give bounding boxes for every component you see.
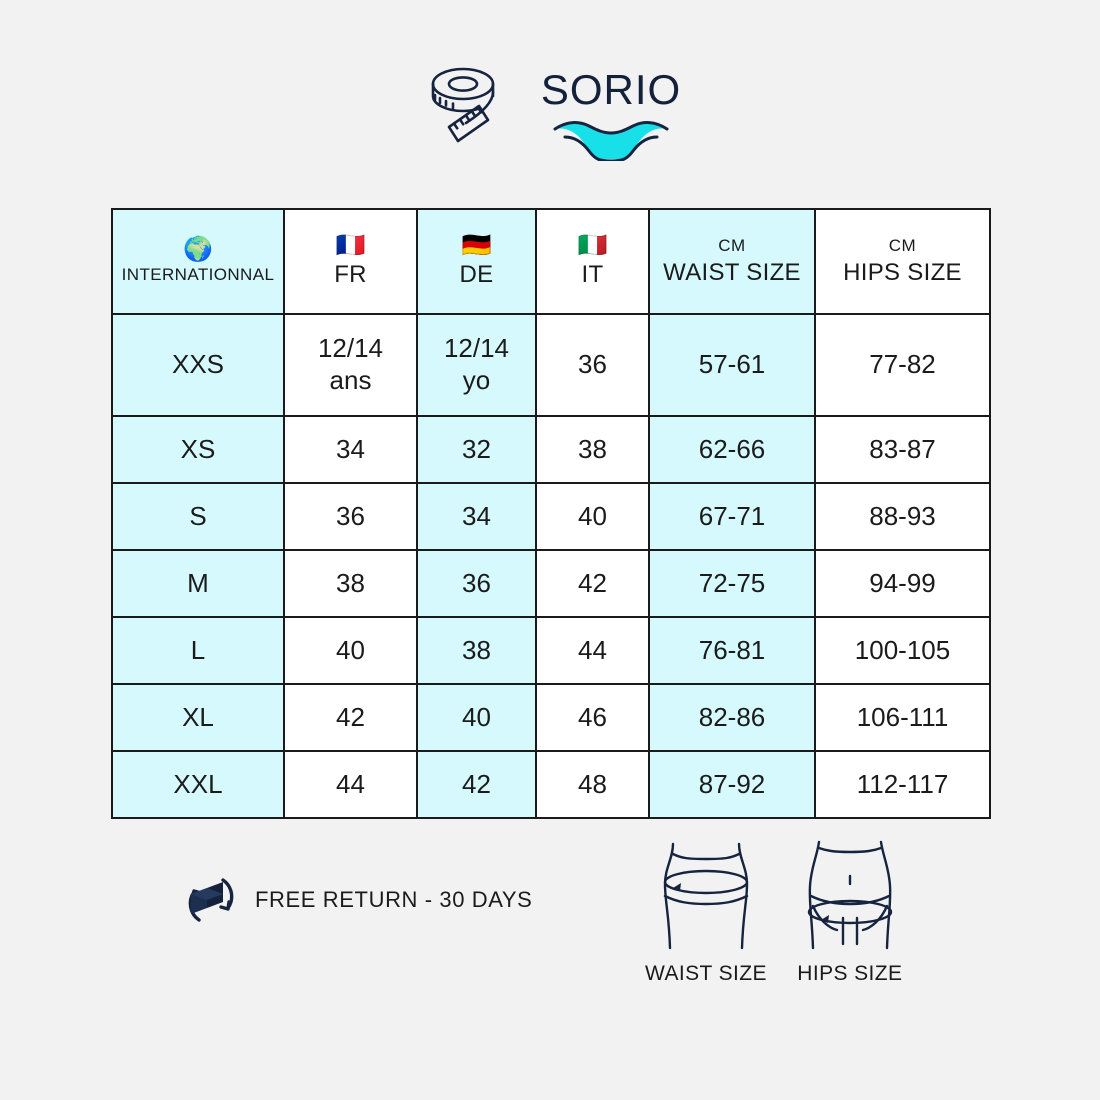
size-chart-table: 🌍 INTERNATIONNAL 🇫🇷 FR 🇩🇪 DE 🇮🇹 bbox=[111, 208, 991, 819]
thong-underwear-icon bbox=[551, 115, 671, 161]
cell-de: 38 bbox=[417, 617, 536, 684]
column-header-waist: CM WAIST SIZE bbox=[649, 209, 815, 314]
cell-value: 82-86 bbox=[650, 702, 814, 734]
table-body: XXS12/14ans12/14yo3657-6177-82XS34323862… bbox=[112, 314, 990, 818]
column-header-hips: CM HIPS SIZE bbox=[815, 209, 990, 314]
brand-name: SORIO bbox=[541, 69, 681, 111]
cell-value: 42 bbox=[537, 568, 648, 600]
cell-hips: 100-105 bbox=[815, 617, 990, 684]
cell-value: 40 bbox=[418, 702, 535, 734]
column-label: WAIST SIZE bbox=[663, 259, 801, 287]
cell-fr: 38 bbox=[284, 550, 417, 617]
column-header-de: 🇩🇪 DE bbox=[417, 209, 536, 314]
hips-measure-icon bbox=[795, 840, 905, 952]
cell-value: 48 bbox=[537, 769, 648, 801]
cell-value: 94-99 bbox=[816, 568, 989, 600]
waist-measure-diagram: WAIST SIZE bbox=[645, 840, 767, 986]
cell-value: 38 bbox=[285, 568, 416, 600]
cell-value: 62-66 bbox=[650, 434, 814, 466]
column-label: INTERNATIONNAL bbox=[122, 265, 275, 285]
cell-value: 38 bbox=[418, 635, 535, 667]
cell-value: 88-93 bbox=[816, 501, 989, 533]
cell-value: 32 bbox=[418, 434, 535, 466]
column-label: FR bbox=[334, 261, 367, 289]
cell-waist: 67-71 bbox=[649, 483, 815, 550]
waist-measure-label: WAIST SIZE bbox=[645, 962, 767, 986]
free-return-badge: FREE RETURN - 30 DAYS bbox=[183, 872, 532, 928]
table-row: S36344067-7188-93 bbox=[112, 483, 990, 550]
cell-it: 40 bbox=[536, 483, 649, 550]
cell-de: 42 bbox=[417, 751, 536, 818]
cell-it: 46 bbox=[536, 684, 649, 751]
column-unit: CM bbox=[718, 236, 745, 256]
waist-measure-icon bbox=[651, 840, 761, 952]
column-header-it: 🇮🇹 IT bbox=[536, 209, 649, 314]
measurement-diagrams: WAIST SIZE HIPS SIZE bbox=[645, 840, 905, 986]
cell-waist: 76-81 bbox=[649, 617, 815, 684]
cell-value: 83-87 bbox=[816, 434, 989, 466]
cell-hips: 83-87 bbox=[815, 416, 990, 483]
globe-icon: 🌍 bbox=[183, 238, 213, 262]
cell-value: 40 bbox=[537, 501, 648, 533]
column-label: IT bbox=[582, 261, 604, 289]
cell-value: 44 bbox=[285, 769, 416, 801]
cell-value: S bbox=[113, 501, 283, 533]
table-row: XXS12/14ans12/14yo3657-6177-82 bbox=[112, 314, 990, 416]
cell-value: 46 bbox=[537, 702, 648, 734]
header-row: 🌍 INTERNATIONNAL 🇫🇷 FR 🇩🇪 DE 🇮🇹 bbox=[112, 209, 990, 314]
cell-value: XL bbox=[113, 702, 283, 734]
cell-value: 12/14yo bbox=[418, 333, 535, 396]
cell-international: XXS bbox=[112, 314, 284, 416]
cell-de: 12/14yo bbox=[417, 314, 536, 416]
france-flag-icon: 🇫🇷 bbox=[336, 234, 366, 258]
cell-de: 32 bbox=[417, 416, 536, 483]
cell-fr: 12/14ans bbox=[284, 314, 417, 416]
cell-hips: 94-99 bbox=[815, 550, 990, 617]
cell-value: 40 bbox=[285, 635, 416, 667]
table-row: L40384476-81100-105 bbox=[112, 617, 990, 684]
cell-value: 57-61 bbox=[650, 349, 814, 381]
cell-international: XL bbox=[112, 684, 284, 751]
column-header-fr: 🇫🇷 FR bbox=[284, 209, 417, 314]
cell-hips: 112-117 bbox=[815, 751, 990, 818]
hips-measure-diagram: HIPS SIZE bbox=[795, 840, 905, 986]
cell-value: 12/14ans bbox=[285, 333, 416, 396]
column-label: HIPS SIZE bbox=[843, 259, 962, 287]
cell-it: 44 bbox=[536, 617, 649, 684]
cell-value: 36 bbox=[418, 568, 535, 600]
cell-value: M bbox=[113, 568, 283, 600]
cell-hips: 77-82 bbox=[815, 314, 990, 416]
cell-value: 36 bbox=[537, 349, 648, 381]
cell-value: 36 bbox=[285, 501, 416, 533]
table-row: XXL44424887-92112-117 bbox=[112, 751, 990, 818]
cell-de: 34 bbox=[417, 483, 536, 550]
cell-value: 76-81 bbox=[650, 635, 814, 667]
cell-value: 106-111 bbox=[816, 702, 989, 734]
cell-it: 38 bbox=[536, 416, 649, 483]
cell-international: M bbox=[112, 550, 284, 617]
cell-value: 44 bbox=[537, 635, 648, 667]
column-label: DE bbox=[460, 261, 494, 289]
cell-value: 67-71 bbox=[650, 501, 814, 533]
table-row: XS34323862-6683-87 bbox=[112, 416, 990, 483]
cell-de: 40 bbox=[417, 684, 536, 751]
germany-flag-icon: 🇩🇪 bbox=[462, 234, 492, 258]
cell-value: 77-82 bbox=[816, 349, 989, 381]
cell-value: XXL bbox=[113, 769, 283, 801]
free-return-label: FREE RETURN - 30 DAYS bbox=[255, 887, 532, 913]
cell-waist: 72-75 bbox=[649, 550, 815, 617]
cell-value: 38 bbox=[537, 434, 648, 466]
table-header: 🌍 INTERNATIONNAL 🇫🇷 FR 🇩🇪 DE 🇮🇹 bbox=[112, 209, 990, 314]
cell-waist: 57-61 bbox=[649, 314, 815, 416]
cell-it: 48 bbox=[536, 751, 649, 818]
cell-value: 112-117 bbox=[816, 769, 989, 801]
cell-value: 100-105 bbox=[816, 635, 989, 667]
cell-value: 42 bbox=[285, 702, 416, 734]
cell-it: 36 bbox=[536, 314, 649, 416]
cell-international: S bbox=[112, 483, 284, 550]
cell-fr: 42 bbox=[284, 684, 417, 751]
cell-fr: 40 bbox=[284, 617, 417, 684]
hips-measure-label: HIPS SIZE bbox=[797, 962, 902, 986]
cell-fr: 34 bbox=[284, 416, 417, 483]
italy-flag-icon: 🇮🇹 bbox=[578, 234, 608, 258]
cell-value: 34 bbox=[285, 434, 416, 466]
cell-value: L bbox=[113, 635, 283, 667]
cell-hips: 106-111 bbox=[815, 684, 990, 751]
table-row: M38364272-7594-99 bbox=[112, 550, 990, 617]
column-unit: CM bbox=[889, 236, 916, 256]
return-package-icon bbox=[183, 872, 239, 928]
cell-fr: 44 bbox=[284, 751, 417, 818]
cell-fr: 36 bbox=[284, 483, 417, 550]
cell-international: XS bbox=[112, 416, 284, 483]
cell-it: 42 bbox=[536, 550, 649, 617]
cell-waist: 62-66 bbox=[649, 416, 815, 483]
cell-de: 36 bbox=[417, 550, 536, 617]
cell-hips: 88-93 bbox=[815, 483, 990, 550]
brand-logo: SORIO bbox=[0, 52, 1100, 177]
cell-international: L bbox=[112, 617, 284, 684]
cell-value: 42 bbox=[418, 769, 535, 801]
measuring-tape-icon bbox=[419, 60, 515, 170]
cell-value: XS bbox=[113, 434, 283, 466]
brand-wordmark: SORIO bbox=[541, 69, 681, 161]
cell-value: 87-92 bbox=[650, 769, 814, 801]
cell-waist: 82-86 bbox=[649, 684, 815, 751]
table-row: XL42404682-86106-111 bbox=[112, 684, 990, 751]
cell-waist: 87-92 bbox=[649, 751, 815, 818]
cell-value: XXS bbox=[113, 349, 283, 381]
column-header-international: 🌍 INTERNATIONNAL bbox=[112, 209, 284, 314]
cell-international: XXL bbox=[112, 751, 284, 818]
cell-value: 72-75 bbox=[650, 568, 814, 600]
cell-value: 34 bbox=[418, 501, 535, 533]
